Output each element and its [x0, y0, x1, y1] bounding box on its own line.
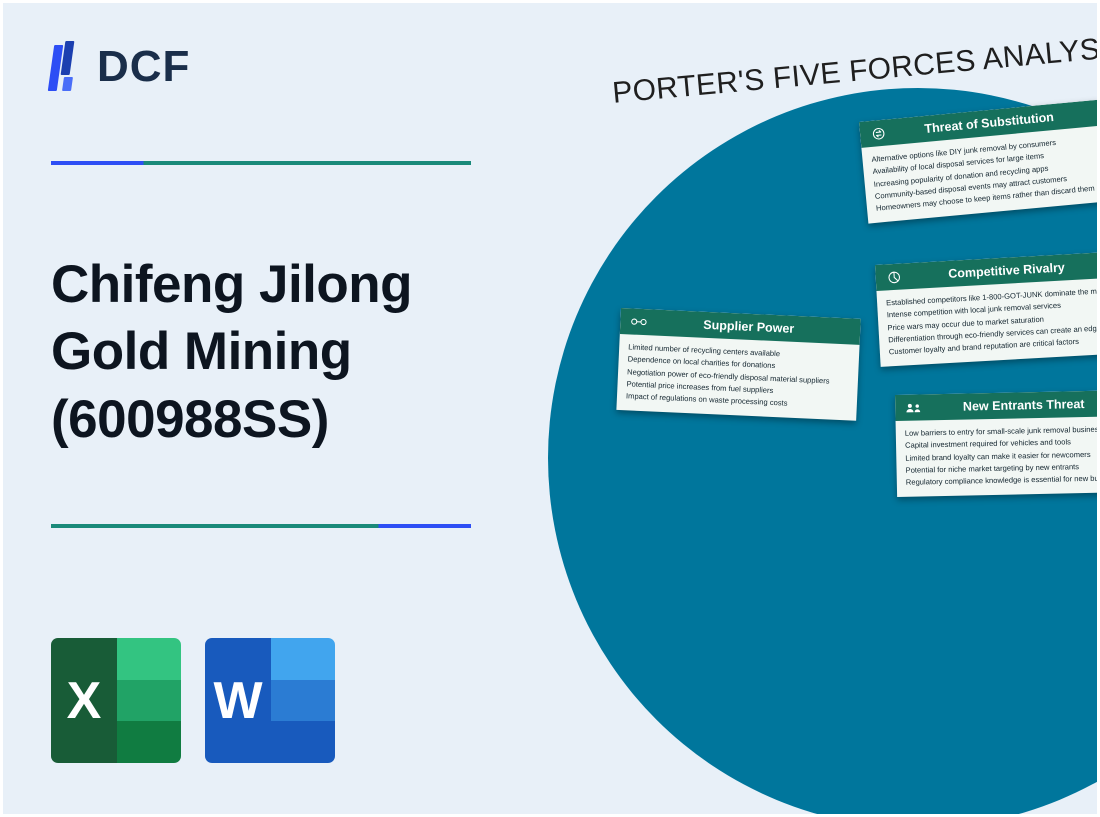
dcf-bars-logo-icon	[51, 41, 85, 93]
card-body: Limited number of recycling centers avai…	[616, 334, 859, 421]
divider-bottom	[51, 524, 471, 528]
word-icon: W	[205, 638, 335, 763]
brand-logo: DCF	[51, 41, 190, 93]
recycle-arrows-icon	[869, 124, 887, 142]
word-icon-letter: W	[205, 638, 271, 763]
people-group-icon	[905, 399, 922, 416]
card-competitive-rivalry: Competitive Rivalry Established competit…	[875, 251, 1100, 367]
page-title-line-2: Gold Mining	[51, 318, 521, 385]
page-title-line-3: (600988SS)	[51, 386, 521, 453]
page-title: Chifeng Jilong Gold Mining (600988SS)	[51, 251, 521, 453]
card-header: New Entrants Threat	[895, 390, 1100, 421]
card-threat-of-substitution: Threat of Substitution Alternative optio…	[859, 100, 1100, 224]
brand-name: DCF	[97, 42, 190, 92]
card-body: Low barriers to entry for small-scale ju…	[896, 416, 1100, 497]
porter-five-forces-graphic: PORTER'S FIVE FORCES ANALYSIS Threat of …	[523, 3, 1100, 817]
card-title: Competitive Rivalry	[902, 258, 1100, 284]
card-supplier-power: Supplier Power Limited number of recycli…	[616, 308, 860, 421]
card-body: Established competitors like 1-800-GOT-J…	[876, 277, 1100, 367]
pie-chart-icon	[885, 268, 903, 286]
link-chain-icon	[630, 313, 648, 331]
page-title-line-1: Chifeng Jilong	[51, 251, 521, 318]
card-title: Supplier Power	[647, 315, 850, 338]
excel-icon: X	[51, 638, 181, 763]
divider-top	[51, 161, 471, 165]
excel-icon-letter: X	[51, 638, 117, 763]
card-title: New Entrants Threat	[922, 396, 1100, 414]
page-root: DCF Chifeng Jilong Gold Mining (600988SS…	[0, 0, 1100, 817]
file-format-icons: X W	[51, 638, 335, 763]
card-new-entrants-threat: New Entrants Threat Low barriers to entr…	[895, 390, 1100, 497]
